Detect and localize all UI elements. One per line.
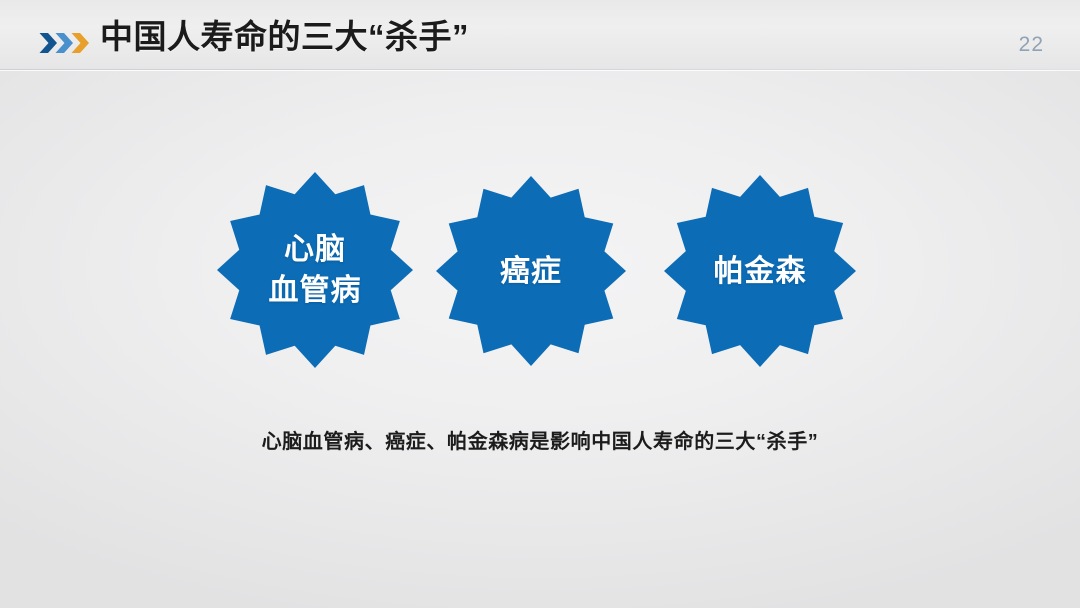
badge-parkinson[interactable]: 帕金森 [664,175,856,367]
starburst-shape-icon [436,176,626,366]
presentation-slide: 中国人寿命的三大“杀手” 22 心脑 血管病 癌症 帕金森 心脑血管病、癌症、帕… [0,0,1080,608]
badge-cardio-cerebrovascular[interactable]: 心脑 血管病 [217,172,413,368]
badge-cancer[interactable]: 癌症 [436,176,626,366]
starburst-shape-icon [217,172,413,368]
slide-caption: 心脑血管病、癌症、帕金森病是影响中国人寿命的三大“杀手” [0,428,1080,456]
badge-row: 心脑 血管病 癌症 帕金森 [0,172,1080,370]
slide-page-number: 22 [1019,33,1044,57]
page-title: 中国人寿命的三大“杀手” [100,18,469,56]
header-divider-highlight [0,70,1080,71]
triple-chevron-right-icon [38,31,96,55]
starburst-shape-icon [664,175,856,367]
